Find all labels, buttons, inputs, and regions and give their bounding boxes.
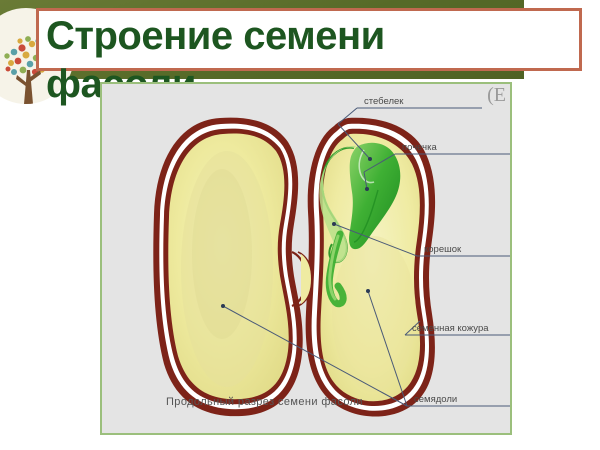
label-semennaya-kozhura: семенная кожура	[412, 323, 489, 334]
figure-panel: (E стебелек почечка корешок семенная кож…	[100, 82, 512, 435]
label-koreshok: корешок	[424, 244, 461, 255]
label-semyadoli: семядоли	[414, 394, 457, 405]
label-pochechka: почечка	[402, 142, 437, 153]
figure-caption: Продольный разрез семени фасоли	[166, 396, 363, 408]
label-stebelek: стебелек	[364, 96, 403, 107]
slide-root: Строение семени фасоли	[0, 0, 600, 450]
watermark: (E	[487, 84, 506, 107]
left-cotyledon	[153, 118, 302, 417]
bean-seed-diagram	[102, 84, 510, 433]
